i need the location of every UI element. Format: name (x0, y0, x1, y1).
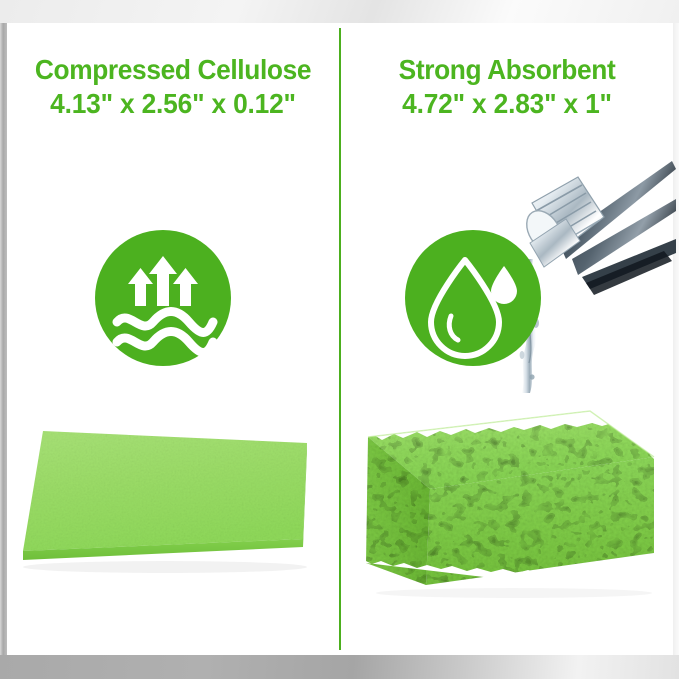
content-card: Compressed Cellulose 4.13" x 2.56" x 0.1… (7, 23, 673, 655)
panel-divider (339, 28, 341, 650)
panel-dimensions: 4.13" x 2.56" x 0.12" (17, 87, 329, 121)
heading-compressed-cellulose: Compressed Cellulose 4.13" x 2.56" x 0.1… (7, 53, 339, 121)
product-sponge-block (354, 403, 660, 615)
panel-compressed-cellulose: Compressed Cellulose 4.13" x 2.56" x 0.1… (7, 23, 339, 655)
panel-title: Strong Absorbent (351, 53, 663, 87)
water-droplet-icon (405, 230, 541, 366)
flat-compressed-cellulose-sheet-image (15, 421, 315, 601)
panel-title: Compressed Cellulose (17, 53, 329, 87)
panel-dimensions: 4.72" x 2.83" x 1" (351, 87, 663, 121)
product-flat-sheet (15, 421, 315, 601)
product-infographic: Compressed Cellulose 4.13" x 2.56" x 0.1… (0, 0, 679, 679)
heading-strong-absorbent: Strong Absorbent 4.72" x 2.83" x 1" (341, 53, 673, 121)
frame-bottom-edge (0, 655, 679, 679)
panel-strong-absorbent: Strong Absorbent 4.72" x 2.83" x 1" (341, 23, 673, 655)
arrows-up-over-waves-icon (95, 230, 231, 366)
frame-top-edge (0, 0, 679, 23)
frame-left-edge (0, 23, 7, 655)
expanded-porous-sponge-block-image (354, 403, 660, 615)
badge-strong-absorbent (405, 230, 541, 366)
badge-expands-when-wet (95, 230, 231, 366)
